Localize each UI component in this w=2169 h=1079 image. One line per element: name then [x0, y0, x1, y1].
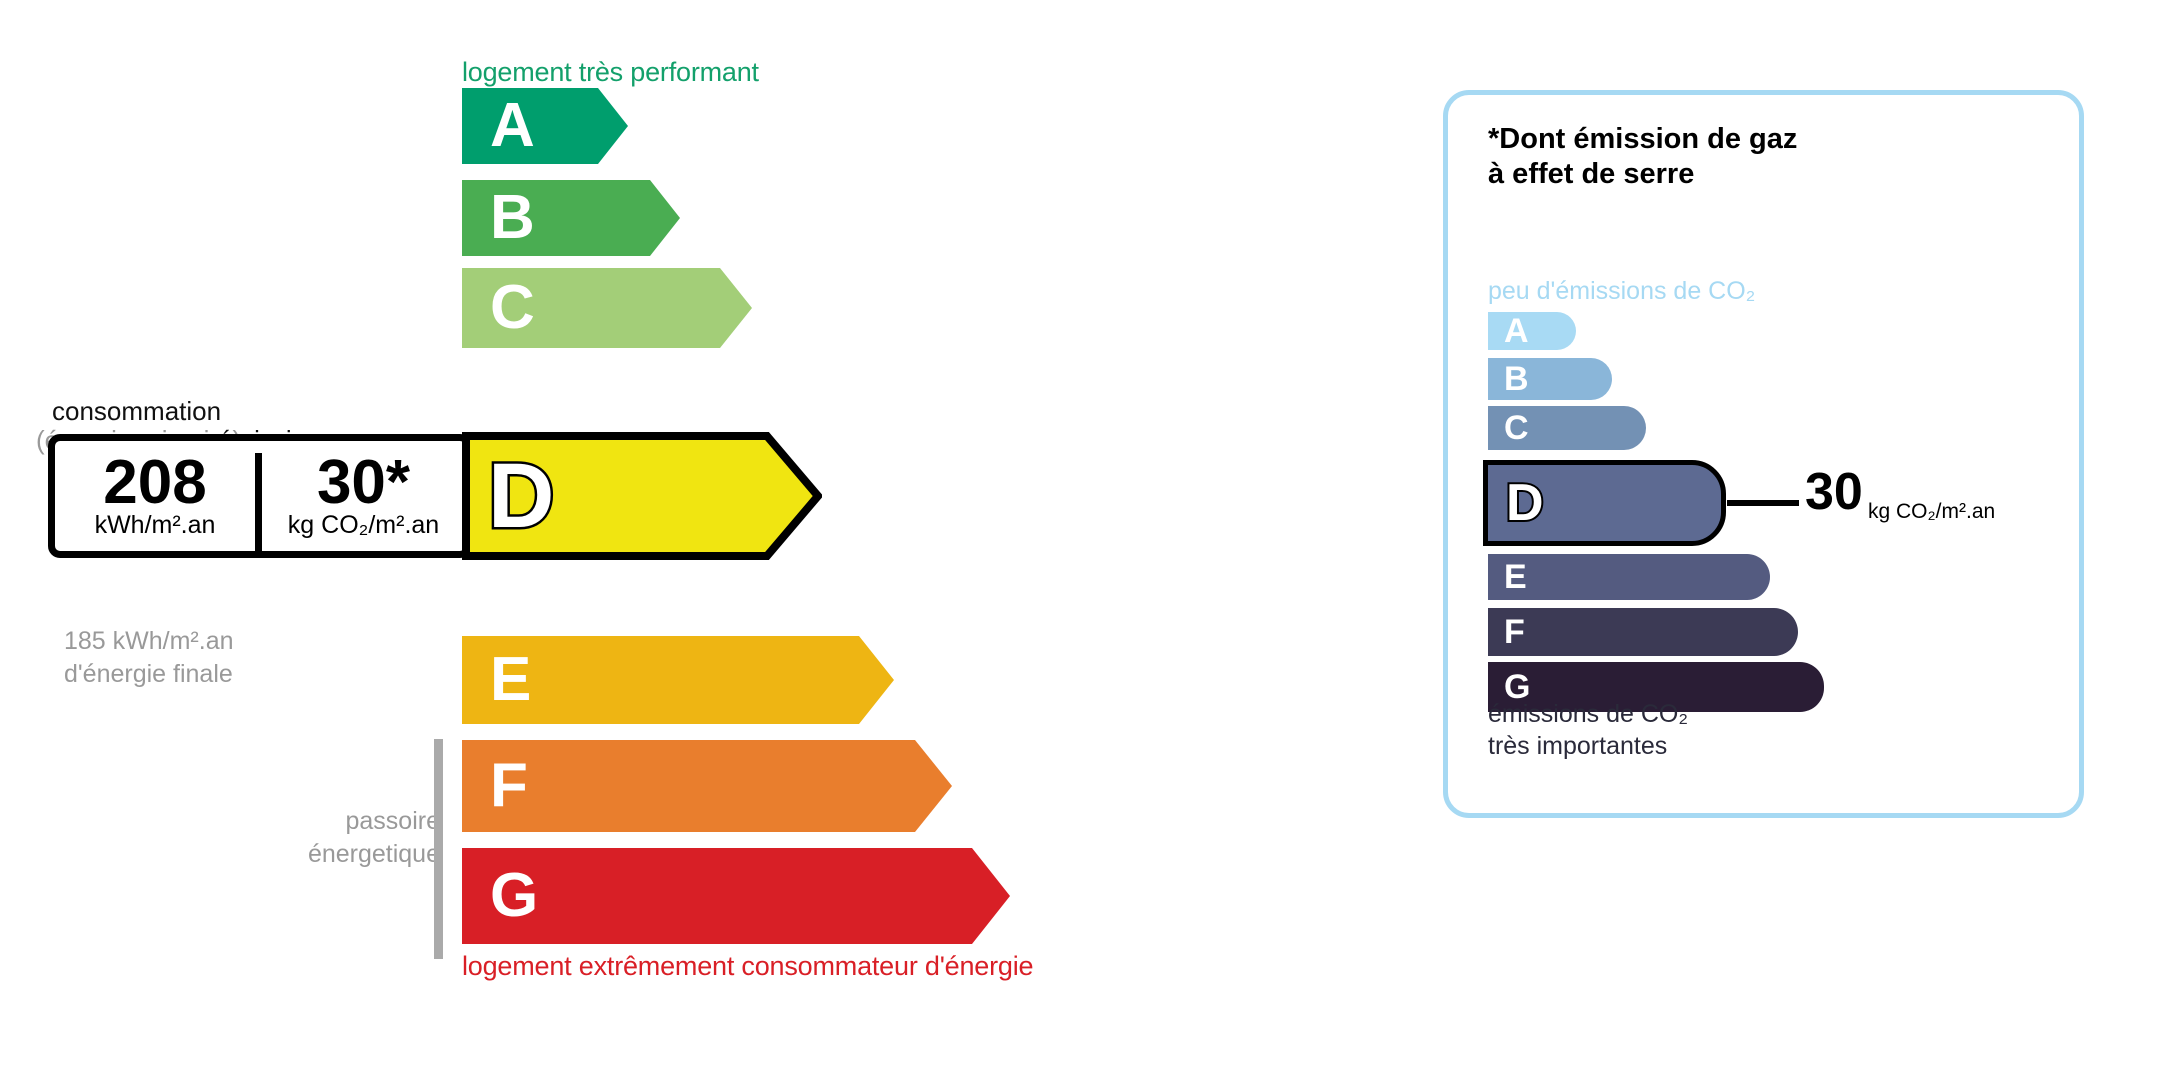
- energy-class-bar-g: G: [462, 848, 1010, 944]
- co2-class-bar-f: F: [1488, 608, 1798, 656]
- value-box-divider: [255, 453, 262, 551]
- consumption-value: 208: [55, 451, 255, 514]
- co2-class-bar-a: A: [1488, 312, 1576, 350]
- final-energy-note: 185 kWh/m².an d'énergie finale: [64, 625, 234, 691]
- energy-class-letter-f: F: [490, 755, 528, 817]
- co2-class-bar-e: E: [1488, 554, 1770, 600]
- co2-value-unit: kg CO₂/m².an: [1868, 500, 1995, 524]
- consumption-value-cell: 208 kWh/m².an: [55, 451, 255, 540]
- emissions-value-cell: 30* kg CO₂/m².an: [262, 451, 465, 540]
- co2-title-line1: *Dont émission de gaz: [1488, 122, 1797, 157]
- co2-class-letter-c: C: [1504, 411, 1529, 445]
- co2-class-letter-d: D: [1506, 477, 1544, 529]
- consumption-header: consommation: [52, 396, 221, 427]
- energy-class-letter-g: G: [490, 865, 538, 927]
- passoire-line1: passoire: [200, 805, 440, 838]
- energy-class-bar-a: A: [462, 88, 628, 164]
- energy-class-letter-d: D: [488, 450, 554, 542]
- energy-class-letter-b: B: [490, 187, 535, 249]
- co2-class-bar-b: B: [1488, 358, 1612, 400]
- passoire-bracket: [434, 739, 443, 959]
- energy-class-letter-e: E: [490, 649, 531, 711]
- energy-class-bar-f: F: [462, 740, 952, 832]
- co2-value: 30: [1805, 466, 1863, 518]
- energy-class-letter-c: C: [490, 277, 535, 339]
- energy-bottom-caption: logement extrêmement consommateur d'éner…: [462, 951, 1033, 982]
- co2-top-caption: peu d'émissions de CO₂: [1488, 277, 1755, 306]
- co2-bottom-line2: très importantes: [1488, 730, 1688, 762]
- co2-title-line2: à effet de serre: [1488, 157, 1797, 192]
- co2-class-letter-a: A: [1504, 314, 1529, 348]
- co2-panel-title: *Dont émission de gaz à effet de serre: [1488, 122, 1797, 193]
- energy-class-bar-c: C: [462, 268, 752, 348]
- energy-class-bar-d: D: [462, 432, 822, 560]
- passoire-energetique-label: passoire énergetique: [200, 805, 440, 871]
- co2-bottom-caption: émissions de CO₂ très importantes: [1488, 698, 1688, 762]
- energy-class-letter-a: A: [490, 95, 535, 157]
- co2-class-bar-d: D: [1488, 460, 1726, 546]
- energy-class-bar-b: B: [462, 180, 680, 256]
- final-energy-line1: 185 kWh/m².an: [64, 625, 234, 658]
- passoire-line2: énergetique: [200, 838, 440, 871]
- energy-top-caption: logement très performant: [462, 57, 759, 88]
- energy-performance-chart: logement très performant consommation (é…: [0, 0, 1300, 1079]
- emissions-unit: kg CO₂/m².an: [262, 512, 465, 540]
- co2-class-bar-c: C: [1488, 406, 1646, 450]
- final-energy-line2: d'énergie finale: [64, 658, 234, 691]
- energy-class-bar-e: E: [462, 636, 894, 724]
- co2-class-letter-e: E: [1504, 560, 1527, 594]
- co2-class-letter-b: B: [1504, 362, 1529, 396]
- co2-leader-line: [1727, 500, 1799, 506]
- co2-class-letter-f: F: [1504, 615, 1525, 649]
- emissions-value: 30*: [262, 451, 465, 514]
- consumption-unit: kWh/m².an: [55, 512, 255, 540]
- energy-value-box: 208 kWh/m².an 30* kg CO₂/m².an: [48, 434, 472, 558]
- co2-bottom-line1: émissions de CO₂: [1488, 698, 1688, 730]
